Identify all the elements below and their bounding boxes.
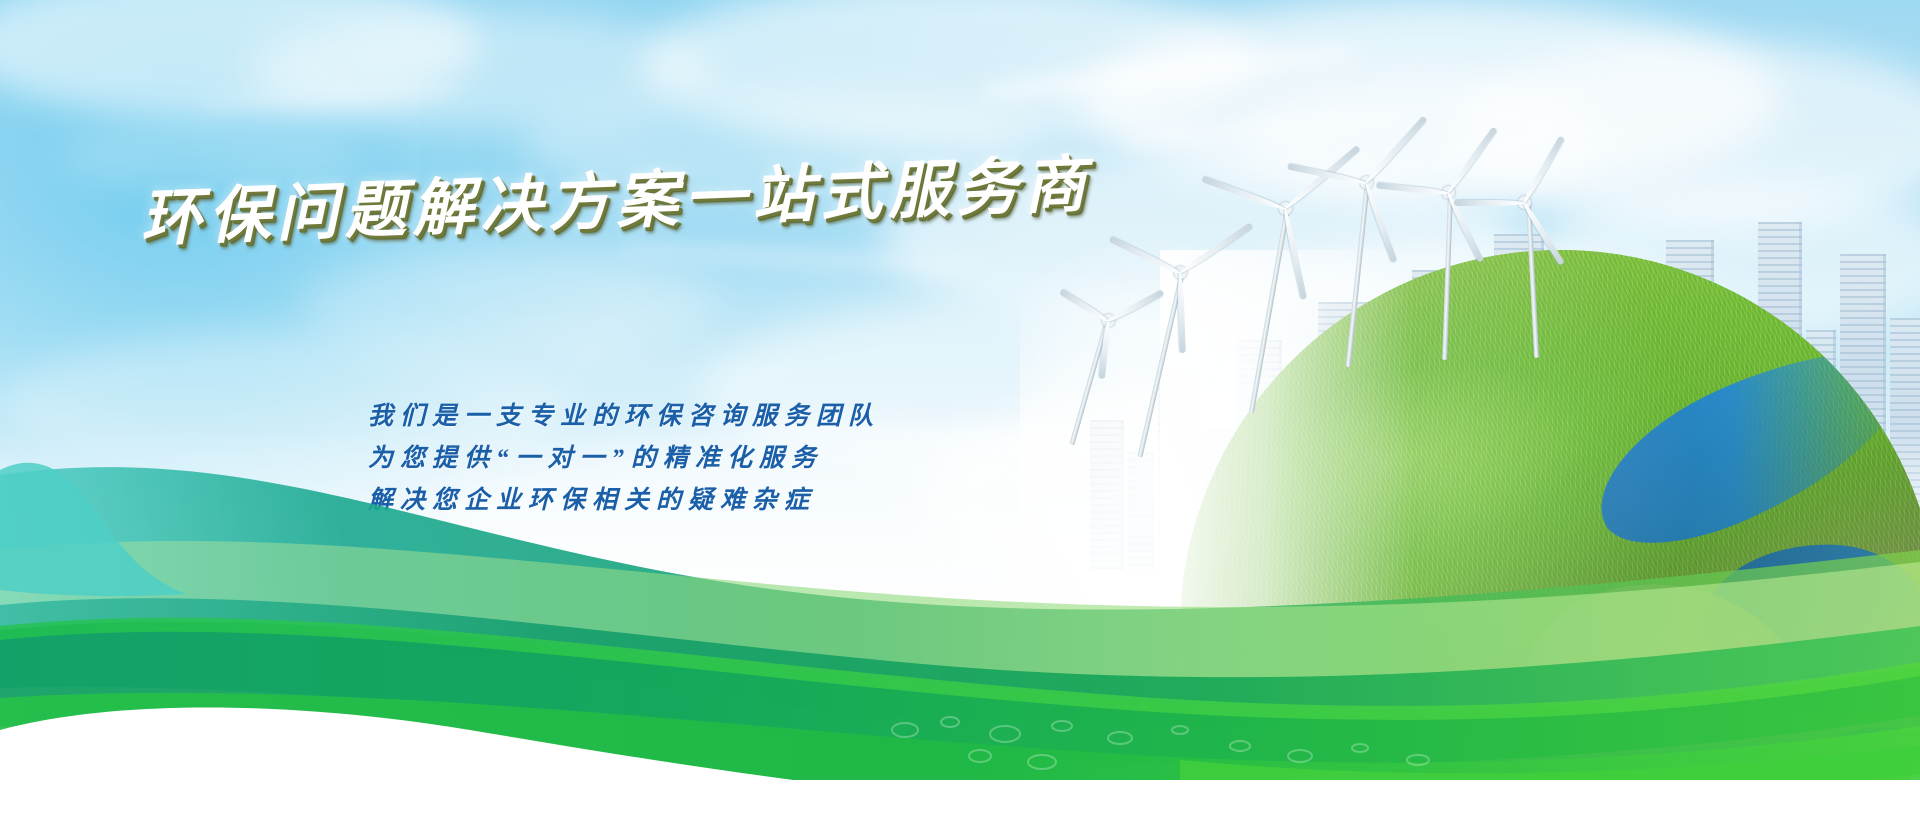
bottom-white-strip [0,780,1920,840]
wind-turbine [1466,172,1586,372]
eco-banner: 环保问题解决方案一站式服务商 我们是一支专业的环保咨询服务团队 为您提供“一对一… [0,0,1920,840]
green-wave-ribbon [0,430,1920,840]
